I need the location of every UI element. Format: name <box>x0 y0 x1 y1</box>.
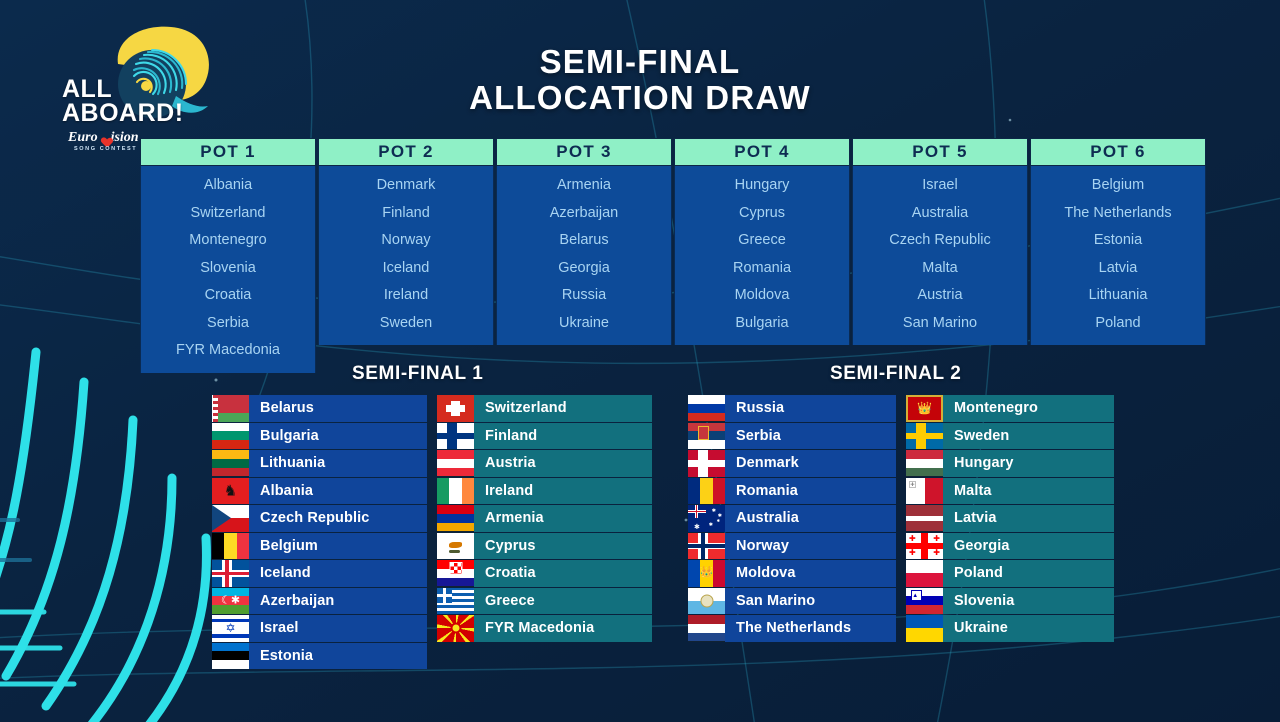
country-name: Belgium <box>249 538 318 554</box>
pot-country-item: Lithuania <box>1031 282 1205 310</box>
semi-final-country-row: Iceland <box>212 560 427 587</box>
pot-country-item: Ireland <box>319 282 493 310</box>
pot-3: POT 3ArmeniaAzerbaijanBelarusGeorgiaRuss… <box>496 138 672 373</box>
pot-country-item: FYR Macedonia <box>141 337 315 365</box>
flag-icon <box>437 423 474 450</box>
pot-country-item: Greece <box>675 227 849 255</box>
pot-4-body: HungaryCyprusGreeceRomaniaMoldovaBulgari… <box>674 166 850 345</box>
semi-final-country-row: Finland <box>437 423 652 450</box>
country-name: The Netherlands <box>725 620 851 636</box>
semi-final-1-section: SEMI-FINAL 1 BelarusBulgariaLithuania♞Al… <box>212 363 654 669</box>
flag-icon <box>437 505 474 532</box>
country-name: Israel <box>249 620 299 636</box>
semi-final-country-row: Ireland <box>437 478 652 505</box>
pot-country-item: Australia <box>853 200 1027 228</box>
country-name: Bulgaria <box>249 428 319 444</box>
semi-final-2-title: SEMI-FINAL 2 <box>688 363 1116 385</box>
flag-icon: ✚✚✚✚ <box>906 533 943 560</box>
flag-icon: ✚ <box>906 478 943 505</box>
pot-country-item: Ukraine <box>497 310 671 338</box>
semi-final-country-row: Lithuania <box>212 450 427 477</box>
flag-icon <box>437 478 474 505</box>
semi-final-country-row: Estonia <box>212 643 427 670</box>
pot-5: POT 5IsraelAustraliaCzech RepublicMaltaA… <box>852 138 1028 373</box>
flag-icon <box>688 450 725 477</box>
country-name: Albania <box>249 483 313 499</box>
pot-country-item: Albania <box>141 172 315 200</box>
pot-country-item: Azerbaijan <box>497 200 671 228</box>
pot-country-item: Moldova <box>675 282 849 310</box>
semi-final-country-row: Croatia <box>437 560 652 587</box>
country-name: Russia <box>725 400 784 416</box>
pot-4-header: POT 4 <box>674 138 850 166</box>
semi-final-country-row: Greece <box>437 588 652 615</box>
pot-country-item: Bulgaria <box>675 310 849 338</box>
semi-final-2-section: SEMI-FINAL 2 RussiaSerbiaDenmarkRomania✱… <box>688 363 1116 642</box>
semi-final-country-row: Cyprus <box>437 533 652 560</box>
semi-final-country-row: ♞Albania <box>212 478 427 505</box>
semi-final-country-row: Sweden <box>906 423 1114 450</box>
pot-4: POT 4HungaryCyprusGreeceRomaniaMoldovaBu… <box>674 138 850 373</box>
country-name: Montenegro <box>943 400 1038 416</box>
pot-5-header: POT 5 <box>852 138 1028 166</box>
semi-final-country-row: Austria <box>437 450 652 477</box>
country-name: Romania <box>725 483 798 499</box>
pot-country-item: Hungary <box>675 172 849 200</box>
semi-final-country-row: FYR Macedonia <box>437 615 652 642</box>
country-name: Lithuania <box>249 455 325 471</box>
flag-icon <box>688 423 725 450</box>
semi-final-country-row: ▲Slovenia <box>906 588 1114 615</box>
flag-icon: ♞ <box>212 478 249 505</box>
page-title: SEMI-FINAL ALLOCATION DRAW <box>0 44 1280 116</box>
pot-country-item: Latvia <box>1031 255 1205 283</box>
country-name: Iceland <box>249 565 311 581</box>
semi-final-country-row: Switzerland <box>437 395 652 422</box>
pot-country-item: Sweden <box>319 310 493 338</box>
semi-final-country-row: 👑Moldova <box>688 560 896 587</box>
semi-final-country-row: ✡Israel <box>212 615 427 642</box>
pot-1-body: AlbaniaSwitzerlandMontenegroSloveniaCroa… <box>140 166 316 373</box>
pot-6-body: BelgiumThe NetherlandsEstoniaLatviaLithu… <box>1030 166 1206 345</box>
flag-icon <box>212 643 249 670</box>
flag-icon: 👑 <box>906 395 943 422</box>
semi-final-country-row: Romania <box>688 478 896 505</box>
pot-country-item: Belgium <box>1031 172 1205 200</box>
flag-icon <box>688 615 725 642</box>
flag-icon <box>212 450 249 477</box>
title-line-2: ALLOCATION DRAW <box>0 80 1280 116</box>
flag-icon <box>906 615 943 642</box>
semi-final-country-row: Russia <box>688 395 896 422</box>
pot-2-body: DenmarkFinlandNorwayIcelandIrelandSweden <box>318 166 494 345</box>
pot-2: POT 2DenmarkFinlandNorwayIcelandIrelandS… <box>318 138 494 373</box>
semi-final-country-row: ✚✚✚✚Georgia <box>906 533 1114 560</box>
semi-final-country-row: Denmark <box>688 450 896 477</box>
pot-6-header: POT 6 <box>1030 138 1206 166</box>
country-name: Ukraine <box>943 620 1008 636</box>
country-name: Serbia <box>725 428 781 444</box>
country-name: Moldova <box>725 565 796 581</box>
pot-country-item: Slovenia <box>141 255 315 283</box>
flag-icon <box>688 395 725 422</box>
flag-icon <box>688 588 725 615</box>
semi-final-country-row: Belarus <box>212 395 427 422</box>
country-name: Armenia <box>474 510 544 526</box>
country-name: Belarus <box>249 400 314 416</box>
semi-final-country-row: Hungary <box>906 450 1114 477</box>
pot-country-item: Austria <box>853 282 1027 310</box>
pot-3-header: POT 3 <box>496 138 672 166</box>
pot-country-item: Montenegro <box>141 227 315 255</box>
semi-final-country-row: Ukraine <box>906 615 1114 642</box>
country-name: Czech Republic <box>249 510 369 526</box>
country-name: Switzerland <box>474 400 567 416</box>
semi-final-country-row: ☾✱Azerbaijan <box>212 588 427 615</box>
presentation-slide: ALL ABOARD! Euro ision SONG CONTEST SEMI… <box>0 0 1280 722</box>
semi-final-country-row: Czech Republic <box>212 505 427 532</box>
country-name: Greece <box>474 593 535 609</box>
flag-icon <box>212 395 249 422</box>
flag-icon: ☾✱ <box>212 588 249 615</box>
country-name: Sweden <box>943 428 1009 444</box>
country-name: Finland <box>474 428 537 444</box>
country-name: Austria <box>474 455 536 471</box>
semi-final-country-row: Serbia <box>688 423 896 450</box>
pot-country-item: Estonia <box>1031 227 1205 255</box>
pots-container: POT 1AlbaniaSwitzerlandMontenegroSloveni… <box>140 138 1206 373</box>
semi-final-country-row: ✱✱✱✱✱Australia <box>688 505 896 532</box>
pot-5-body: IsraelAustraliaCzech RepublicMaltaAustri… <box>852 166 1028 345</box>
flag-icon <box>906 505 943 532</box>
country-name: Australia <box>725 510 799 526</box>
country-name: Estonia <box>249 648 313 664</box>
title-line-1: SEMI-FINAL <box>540 43 741 80</box>
pot-country-item: Finland <box>319 200 493 228</box>
wordmark-suffix: ision <box>111 130 139 146</box>
pot-country-item: Romania <box>675 255 849 283</box>
flag-icon <box>437 533 474 560</box>
flag-icon: 👑 <box>688 560 725 587</box>
pot-country-item: Croatia <box>141 282 315 310</box>
pot-2-header: POT 2 <box>318 138 494 166</box>
country-name: Azerbaijan <box>249 593 334 609</box>
flag-icon <box>212 560 249 587</box>
pot-country-item: Norway <box>319 227 493 255</box>
country-name: Norway <box>725 538 789 554</box>
flag-icon <box>437 395 474 422</box>
flag-icon <box>212 533 249 560</box>
pot-country-item: Russia <box>497 282 671 310</box>
semi-final-1-title: SEMI-FINAL 1 <box>212 363 654 385</box>
semi-final-country-row: Poland <box>906 560 1114 587</box>
pot-country-item: Georgia <box>497 255 671 283</box>
country-name: Slovenia <box>943 593 1014 609</box>
flag-icon: ✡ <box>212 615 249 642</box>
semi-final-country-row: Armenia <box>437 505 652 532</box>
flag-icon <box>437 588 474 615</box>
pot-country-item: Serbia <box>141 310 315 338</box>
flag-icon <box>688 478 725 505</box>
flag-icon <box>906 450 943 477</box>
flag-icon <box>437 615 474 642</box>
flag-icon <box>212 423 249 450</box>
country-name: Denmark <box>725 455 799 471</box>
country-name: Ireland <box>474 483 533 499</box>
pot-6: POT 6BelgiumThe NetherlandsEstoniaLatvia… <box>1030 138 1206 373</box>
flag-icon <box>437 560 474 587</box>
country-name: Georgia <box>943 538 1010 554</box>
semi-final-country-row: Bulgaria <box>212 423 427 450</box>
pot-1: POT 1AlbaniaSwitzerlandMontenegroSloveni… <box>140 138 316 373</box>
pot-country-item: Cyprus <box>675 200 849 228</box>
pot-country-item: Armenia <box>497 172 671 200</box>
pot-country-item: San Marino <box>853 310 1027 338</box>
flag-icon: ✱✱✱✱✱ <box>688 505 725 532</box>
wordmark-prefix: Euro <box>68 130 98 146</box>
semi-final-2-column-right: 👑MontenegroSwedenHungary✚MaltaLatvia✚✚✚✚… <box>906 395 1114 642</box>
semi-final-1-column-left: BelarusBulgariaLithuania♞AlbaniaCzech Re… <box>212 395 427 669</box>
pot-country-item: Belarus <box>497 227 671 255</box>
semi-final-1-column-right: SwitzerlandFinlandAustriaIrelandArmeniaC… <box>437 395 652 669</box>
flag-icon <box>906 560 943 587</box>
country-name: Hungary <box>943 455 1014 471</box>
country-name: Cyprus <box>474 538 536 554</box>
eurovision-wordmark: Euro ision <box>68 130 139 146</box>
semi-final-2-column-left: RussiaSerbiaDenmarkRomania✱✱✱✱✱Australia… <box>688 395 896 642</box>
semi-final-country-row: The Netherlands <box>688 615 896 642</box>
country-name: San Marino <box>725 593 815 609</box>
country-name: FYR Macedonia <box>474 620 594 636</box>
flag-icon <box>688 533 725 560</box>
country-name: Latvia <box>943 510 997 526</box>
semi-final-country-row: San Marino <box>688 588 896 615</box>
pot-country-item: Denmark <box>319 172 493 200</box>
eurovision-subtitle: SONG CONTEST <box>74 146 137 152</box>
pot-country-item: Iceland <box>319 255 493 283</box>
semi-final-country-row: 👑Montenegro <box>906 395 1114 422</box>
flag-icon <box>212 505 249 532</box>
country-name: Poland <box>943 565 1003 581</box>
semi-final-country-row: ✚Malta <box>906 478 1114 505</box>
flag-icon: ▲ <box>906 588 943 615</box>
eurovision-heart-icon <box>99 133 110 144</box>
pot-country-item: Malta <box>853 255 1027 283</box>
pot-country-item: Czech Republic <box>853 227 1027 255</box>
country-name: Malta <box>943 483 992 499</box>
pot-country-item: Switzerland <box>141 200 315 228</box>
flag-icon <box>906 423 943 450</box>
pot-3-body: ArmeniaAzerbaijanBelarusGeorgiaRussiaUkr… <box>496 166 672 345</box>
pot-country-item: Israel <box>853 172 1027 200</box>
country-name: Croatia <box>474 565 536 581</box>
semi-final-country-row: Latvia <box>906 505 1114 532</box>
pot-1-header: POT 1 <box>140 138 316 166</box>
pot-country-item: Poland <box>1031 310 1205 338</box>
semi-final-country-row: Norway <box>688 533 896 560</box>
semi-final-country-row: Belgium <box>212 533 427 560</box>
flag-icon <box>437 450 474 477</box>
pot-country-item: The Netherlands <box>1031 200 1205 228</box>
